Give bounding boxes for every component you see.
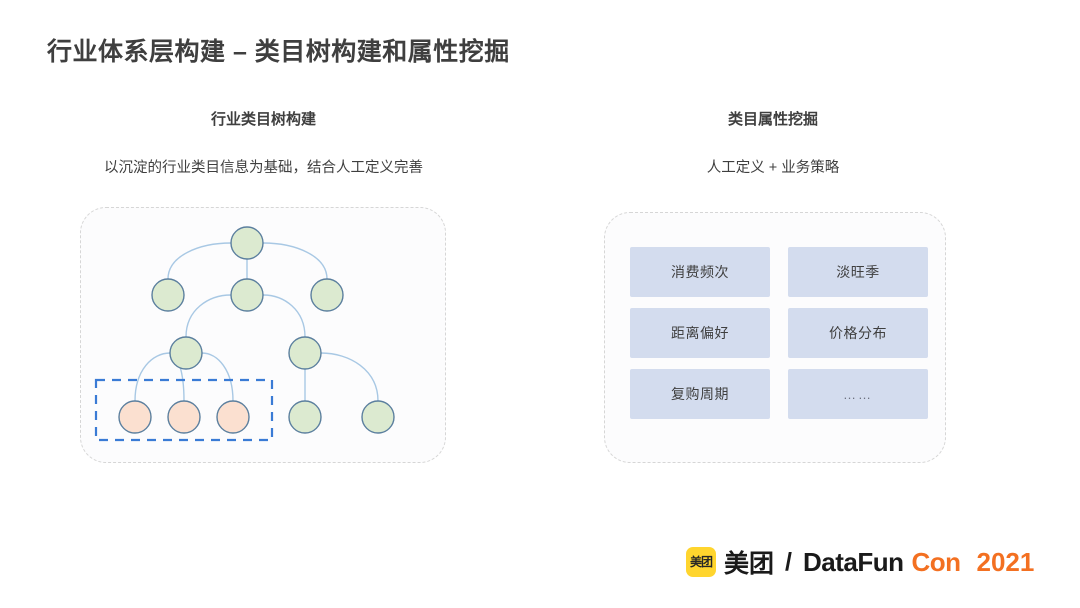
tree-edge	[168, 243, 231, 279]
tree-category-node[interactable]	[311, 279, 343, 311]
attribute-card[interactable]: 价格分布	[788, 308, 928, 358]
conference-year: 2021	[977, 547, 1035, 578]
tree-leaf-node[interactable]	[168, 401, 200, 433]
left-column-description: 以沉淀的行业类目信息为基础，结合人工定义完善	[0, 156, 527, 177]
tree-nodes	[119, 227, 394, 433]
footer-separator: /	[785, 548, 792, 577]
tree-category-node[interactable]	[152, 279, 184, 311]
attribute-card[interactable]: 淡旺季	[788, 247, 928, 297]
tree-edge	[321, 353, 378, 401]
page-title: 行业体系层构建 – 类目树构建和属性挖掘	[47, 32, 510, 68]
left-column-heading: 行业类目树构建	[0, 108, 527, 129]
meituan-logo-icon: 美团	[686, 547, 716, 577]
tree-edges	[135, 243, 378, 401]
attribute-cards-grid: 消费频次淡旺季距离偏好价格分布复购周期……	[630, 247, 928, 433]
category-tree-diagram	[80, 207, 446, 463]
tree-edge	[202, 353, 233, 401]
attribute-card[interactable]: 距离偏好	[630, 308, 770, 358]
datafun-text: DataFun	[803, 547, 904, 578]
tree-leaf-node[interactable]	[217, 401, 249, 433]
tree-category-node[interactable]	[289, 401, 321, 433]
tree-edge	[186, 295, 231, 337]
tree-category-node[interactable]	[289, 337, 321, 369]
meituan-brand-text: 美团	[724, 544, 774, 580]
tree-edge	[263, 243, 327, 279]
con-text: Con	[911, 547, 960, 578]
tree-category-node[interactable]	[231, 227, 263, 259]
right-column-heading: 类目属性挖掘	[553, 108, 993, 129]
tree-category-node[interactable]	[362, 401, 394, 433]
tree-edge	[135, 353, 170, 401]
tree-leaf-node[interactable]	[119, 401, 151, 433]
footer-branding: 美团 美团 / DataFun Con 2021	[686, 544, 1034, 580]
attribute-card[interactable]: ……	[788, 369, 928, 419]
attribute-card[interactable]: 复购周期	[630, 369, 770, 419]
tree-edge	[263, 295, 305, 337]
tree-category-node[interactable]	[170, 337, 202, 369]
attribute-card[interactable]: 消费频次	[630, 247, 770, 297]
tree-category-node[interactable]	[231, 279, 263, 311]
right-column-description: 人工定义 + 业务策略	[553, 156, 993, 177]
